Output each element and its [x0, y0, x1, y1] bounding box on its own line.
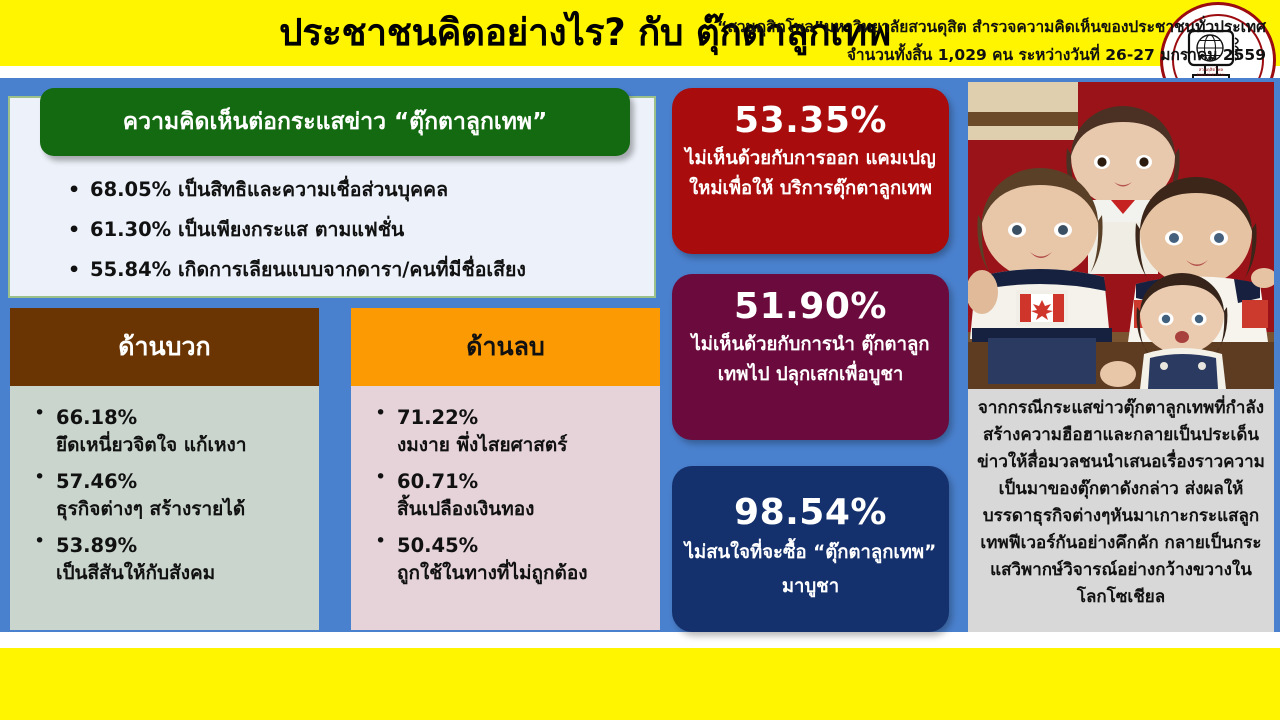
stat-card-campaign: 53.35% ไม่เห็นด้วยกับการออก แคมเปญใหม่เพ…	[672, 88, 949, 254]
list-item: 60.71% สิ้นเปลืองเงินทอง	[373, 468, 650, 524]
infographic-poster: ประชาชนคิดอย่างไร? กับ ตุ๊กตาลูกเทพ มหาว…	[0, 0, 1280, 720]
negative-panel-body: 71.22% งมงาย พึ่งไสยศาสตร์ 60.71% สิ้นเป…	[351, 386, 660, 630]
stat-description: ไม่เห็นด้วยกับการออก แคมเปญใหม่เพื่อให้ …	[672, 144, 949, 204]
stat-value: 53.35%	[672, 98, 949, 144]
list-item: 61.30% เป็นเพียงกระแส ตามแฟชั่น	[68, 210, 648, 250]
stat-description: ยึดเหนี่ยวจิตใจ แก้เหงา	[56, 431, 309, 460]
stat-description: ธุรกิจต่างๆ สร้างรายได้	[56, 495, 309, 524]
opinion-list: 68.05% เป็นสิทธิและความเชื่อส่วนบุคคล 61…	[68, 170, 648, 290]
stat-percent: 53.89%	[56, 532, 309, 559]
stat-description: สิ้นเปลืองเงินทอง	[397, 495, 650, 524]
stat-description: เป็นสีสันให้กับสังคม	[56, 559, 309, 588]
stat-percent: 60.71%	[397, 468, 650, 495]
emblem-label-th: สวนดุสิตโพล	[1199, 66, 1224, 73]
stat-card-blessing: 51.90% ไม่เห็นด้วยกับการนำ ตุ๊กตาลูกเทพไ…	[672, 274, 949, 440]
positive-panel: ด้านบวก 66.18% ยึดเหนี่ยวจิตใจ แก้เหงา 5…	[10, 308, 319, 630]
dolls-illustration	[968, 82, 1274, 389]
stat-percent: 50.45%	[397, 532, 650, 559]
positive-panel-title: ด้านบวก	[118, 327, 210, 367]
opinion-box-heading-label: ความคิดเห็นต่อกระแสข่าว “ตุ๊กตาลูกเทพ”	[123, 104, 547, 140]
stat-description: งมงาย พึ่งไสยศาสตร์	[397, 431, 650, 460]
footer-band	[0, 648, 1280, 720]
list-item: 50.45% ถูกใช้ในทางที่ไม่ถูกต้อง	[373, 532, 650, 588]
stat-value: 51.90%	[672, 284, 949, 330]
list-item: 57.46% ธุรกิจต่างๆ สร้างรายได้	[32, 468, 309, 524]
list-item: 71.22% งมงาย พึ่งไสยศาสตร์	[373, 404, 650, 460]
positive-list: 66.18% ยึดเหนี่ยวจิตใจ แก้เหงา 57.46% ธุ…	[32, 404, 309, 588]
negative-panel-header: ด้านลบ	[351, 308, 660, 386]
emblem-label-en: SUAN DUSIT POLL	[1197, 73, 1226, 77]
narrative-text: จากกรณีกระแสข่าวตุ๊กตาลูกเทพที่กำลังสร้า…	[976, 395, 1266, 611]
opinion-box-heading: ความคิดเห็นต่อกระแสข่าว “ตุ๊กตาลูกเทพ”	[40, 88, 630, 156]
narrative-panel: จากกรณีกระแสข่าวตุ๊กตาลูกเทพที่กำลังสร้า…	[968, 389, 1274, 632]
stat-percent: 71.22%	[397, 404, 650, 431]
list-item: 66.18% ยึดเหนี่ยวจิตใจ แก้เหงา	[32, 404, 309, 460]
stat-description: ไม่เห็นด้วยกับการนำ ตุ๊กตาลูกเทพไป ปลุกเ…	[672, 330, 949, 390]
stat-value: 98.54%	[672, 490, 949, 536]
positive-panel-body: 66.18% ยึดเหนี่ยวจิตใจ แก้เหงา 57.46% ธุ…	[10, 386, 319, 630]
negative-list: 71.22% งมงาย พึ่งไสยศาสตร์ 60.71% สิ้นเป…	[373, 404, 650, 588]
list-item: 55.84% เกิดการเลียนแบบจากดารา/คนที่มีชื่…	[68, 250, 648, 290]
stat-card-purchase: 98.54% ไม่สนใจที่จะซื้อ “ตุ๊กตาลูกเทพ” ม…	[672, 466, 949, 632]
stat-description: ไม่สนใจที่จะซื้อ “ตุ๊กตาลูกเทพ” มาบูชา	[672, 536, 949, 604]
list-item: 68.05% เป็นสิทธิและความเชื่อส่วนบุคคล	[68, 170, 648, 210]
stat-percent: 66.18%	[56, 404, 309, 431]
negative-panel: ด้านลบ 71.22% งมงาย พึ่งไสยศาสตร์ 60.71%…	[351, 308, 660, 630]
footer-line-1: “สวนดุสิตโพล”มหาวิทยาลัยสวนดุสิต สำรวจคว…	[717, 14, 1266, 39]
luk-thep-dolls-photo	[968, 82, 1274, 389]
stat-percent: 57.46%	[56, 468, 309, 495]
negative-panel-title: ด้านลบ	[466, 327, 545, 367]
footer-line-2: จำนวนทั้งสิ้น 1,029 คน ระหว่างวันที่ 26-…	[847, 42, 1266, 67]
positive-panel-header: ด้านบวก	[10, 308, 319, 386]
stat-description: ถูกใช้ในทางที่ไม่ถูกต้อง	[397, 559, 650, 588]
list-item: 53.89% เป็นสีสันให้กับสังคม	[32, 532, 309, 588]
